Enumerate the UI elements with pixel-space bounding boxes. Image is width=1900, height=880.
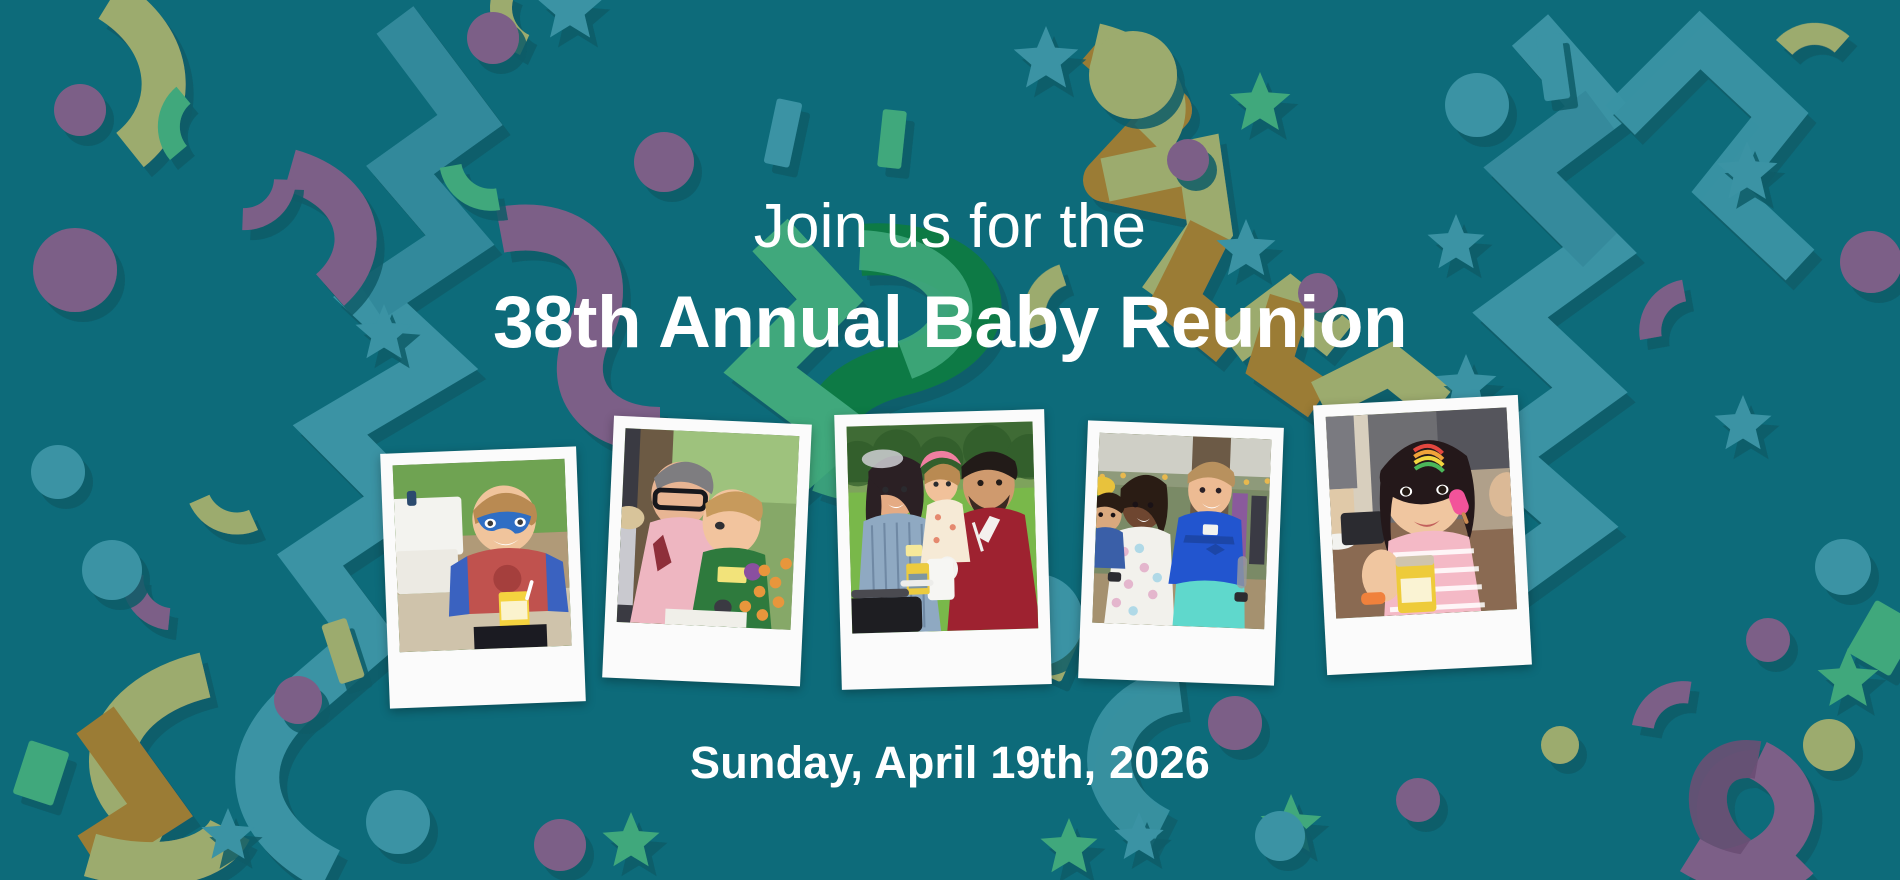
- banner-headline: 38th Annual Baby Reunion: [493, 286, 1407, 359]
- reunion-banner: Join us for the 38th Annual Baby Reunion…: [0, 0, 1900, 880]
- banner-content: Join us for the 38th Annual Baby Reunion: [0, 0, 1900, 880]
- banner-eyebrow: Join us for the: [754, 196, 1146, 258]
